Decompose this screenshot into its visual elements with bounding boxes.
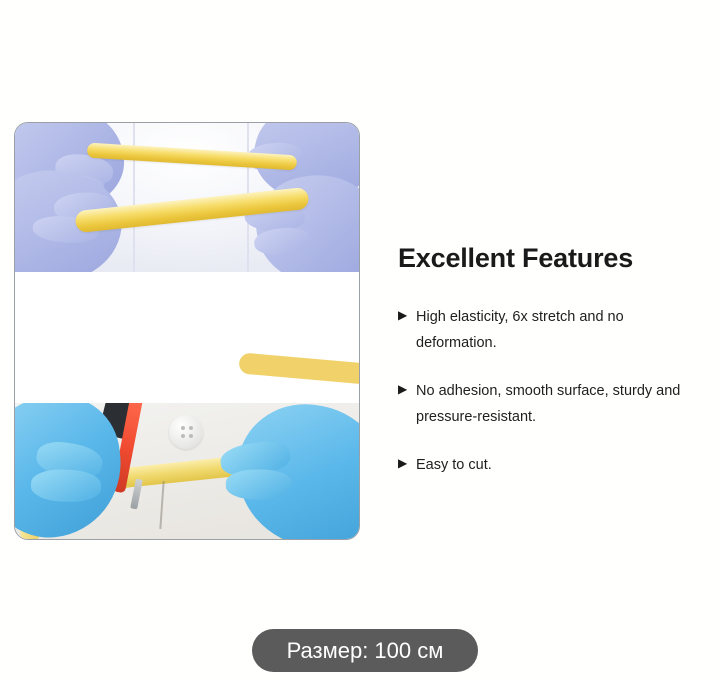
glove-hand [230,403,359,540]
glove-hand [15,403,128,540]
size-badge-label: Размер: 100 см [287,640,444,662]
product-photo-curve [15,272,359,403]
feature-list-item: ▶ No adhesion, smooth surface, sturdy an… [398,378,698,430]
product-photo-stretch [15,123,359,272]
triangle-bullet-icon: ▶ [398,378,416,400]
cut-mark [159,481,164,529]
shirt-button [169,415,203,449]
triangle-bullet-icon: ▶ [398,304,416,326]
product-photo-cut [15,403,359,540]
features-section: Excellent Features ▶ High elasticity, 6x… [398,244,698,500]
features-heading: Excellent Features [398,244,698,274]
feature-text: High elasticity, 6x stretch and no defor… [416,304,698,356]
feature-text: Easy to cut. [416,452,698,478]
size-badge: Размер: 100 см [252,629,478,672]
product-image-panel [14,122,360,540]
triangle-bullet-icon: ▶ [398,452,416,474]
feature-list-item: ▶ High elasticity, 6x stretch and no def… [398,304,698,356]
feature-list-item: ▶ Easy to cut. [398,452,698,478]
feature-text: No adhesion, smooth surface, sturdy and … [416,378,698,430]
tube-highlight [15,272,323,403]
